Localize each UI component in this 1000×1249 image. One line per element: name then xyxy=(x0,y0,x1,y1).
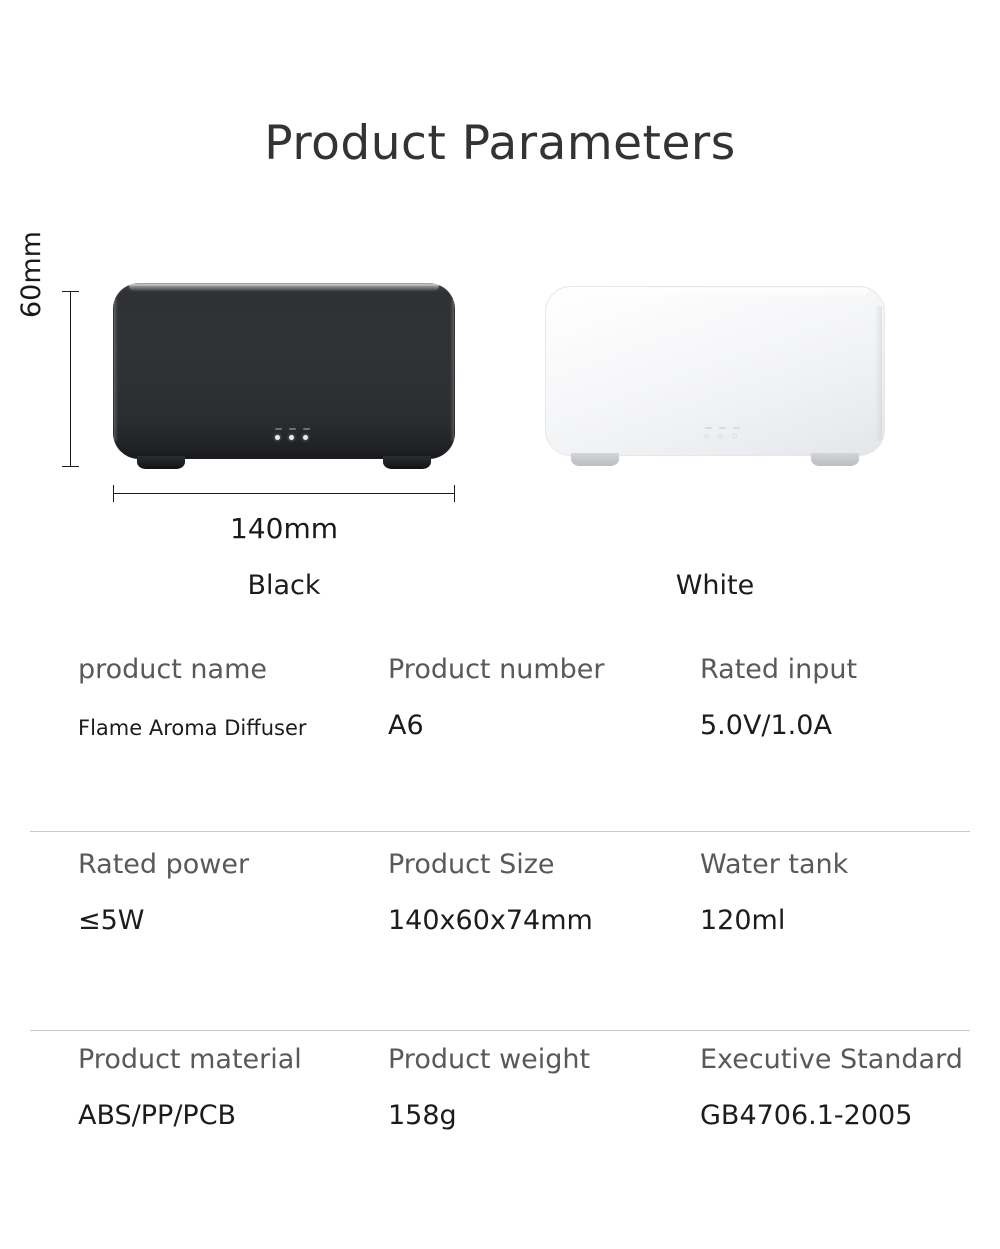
led-dot-icon xyxy=(303,435,308,440)
spec-cell: Product weight 158g xyxy=(388,1045,688,1130)
spec-divider xyxy=(30,831,970,832)
color-caption-white: White xyxy=(545,570,885,601)
right-edge-highlight-icon xyxy=(450,299,454,441)
width-dimension-label: 140mm xyxy=(113,512,455,545)
gloss-highlight-icon xyxy=(564,288,868,296)
led-indicator-group-black xyxy=(275,435,308,440)
spec-label: Product material xyxy=(78,1045,378,1075)
spec-cell: Rated power ≤5W xyxy=(78,850,378,935)
spec-label: Product Size xyxy=(388,850,688,880)
spec-value: 140x60x74mm xyxy=(388,906,688,936)
spec-cell: Water tank 120ml xyxy=(700,850,1000,935)
spec-value: 5.0V/1.0A xyxy=(700,711,1000,741)
device-foot-left xyxy=(571,453,619,466)
spec-label: Rated power xyxy=(78,850,378,880)
spec-cell: product name Flame Aroma Diffuser xyxy=(78,655,378,740)
height-dimension-label: 60mm xyxy=(16,231,47,318)
led-dot-icon xyxy=(275,435,280,440)
led-dot-icon xyxy=(289,435,294,440)
specification-table: product name Flame Aroma Diffuser Produc… xyxy=(0,655,1000,1240)
spec-row: Rated power ≤5W Product Size 140x60x74mm… xyxy=(0,850,1000,1045)
led-tick-icon xyxy=(719,427,726,429)
led-tick-icon xyxy=(289,428,296,430)
led-tick-icon xyxy=(303,428,310,430)
product-image-black xyxy=(113,283,455,469)
product-image-white xyxy=(545,286,885,468)
spec-cell: Product number A6 xyxy=(388,655,688,740)
spec-cell: Product Size 140x60x74mm xyxy=(388,850,688,935)
spec-label: product name xyxy=(78,655,378,685)
spec-label: Executive Standard xyxy=(700,1045,1000,1075)
spec-value: ≤5W xyxy=(78,906,378,936)
width-dimension-line xyxy=(113,493,455,494)
spec-label: Water tank xyxy=(700,850,1000,880)
product-showcase: 60mm 140mm xyxy=(0,0,1000,620)
spec-divider xyxy=(30,1030,970,1031)
device-foot-right xyxy=(811,453,859,466)
spec-value: ABS/PP/PCB xyxy=(78,1101,378,1131)
led-dot-icon xyxy=(718,434,723,439)
spec-label: Product weight xyxy=(388,1045,688,1075)
spec-row: product name Flame Aroma Diffuser Produc… xyxy=(0,655,1000,850)
spec-value: GB4706.1-2005 xyxy=(700,1101,1000,1131)
right-edge-highlight-icon xyxy=(875,305,882,441)
color-caption-black: Black xyxy=(114,570,454,601)
led-tick-icon xyxy=(733,427,740,429)
spec-value: 120ml xyxy=(700,906,1000,936)
led-indicator-group-white xyxy=(704,434,737,439)
spec-row: Product material ABS/PP/PCB Product weig… xyxy=(0,1045,1000,1240)
gloss-highlight-icon xyxy=(129,284,439,291)
spec-label: Product number xyxy=(388,655,688,685)
left-edge-highlight-icon xyxy=(114,299,118,441)
led-tick-icon xyxy=(705,427,712,429)
device-foot-left xyxy=(137,456,185,469)
spec-value: Flame Aroma Diffuser xyxy=(78,717,378,740)
device-foot-right xyxy=(383,456,431,469)
spec-value: 158g xyxy=(388,1101,688,1131)
spec-cell: Rated input 5.0V/1.0A xyxy=(700,655,1000,740)
spec-label: Rated input xyxy=(700,655,1000,685)
led-dot-icon xyxy=(704,434,709,439)
spec-cell: Product material ABS/PP/PCB xyxy=(78,1045,378,1130)
device-body-black xyxy=(113,283,455,459)
led-tick-icon xyxy=(275,428,282,430)
spec-value: A6 xyxy=(388,711,688,741)
device-body-white xyxy=(545,286,885,456)
led-dot-icon xyxy=(732,434,737,439)
height-dimension-line xyxy=(70,291,71,467)
spec-cell: Executive Standard GB4706.1-2005 xyxy=(700,1045,1000,1130)
